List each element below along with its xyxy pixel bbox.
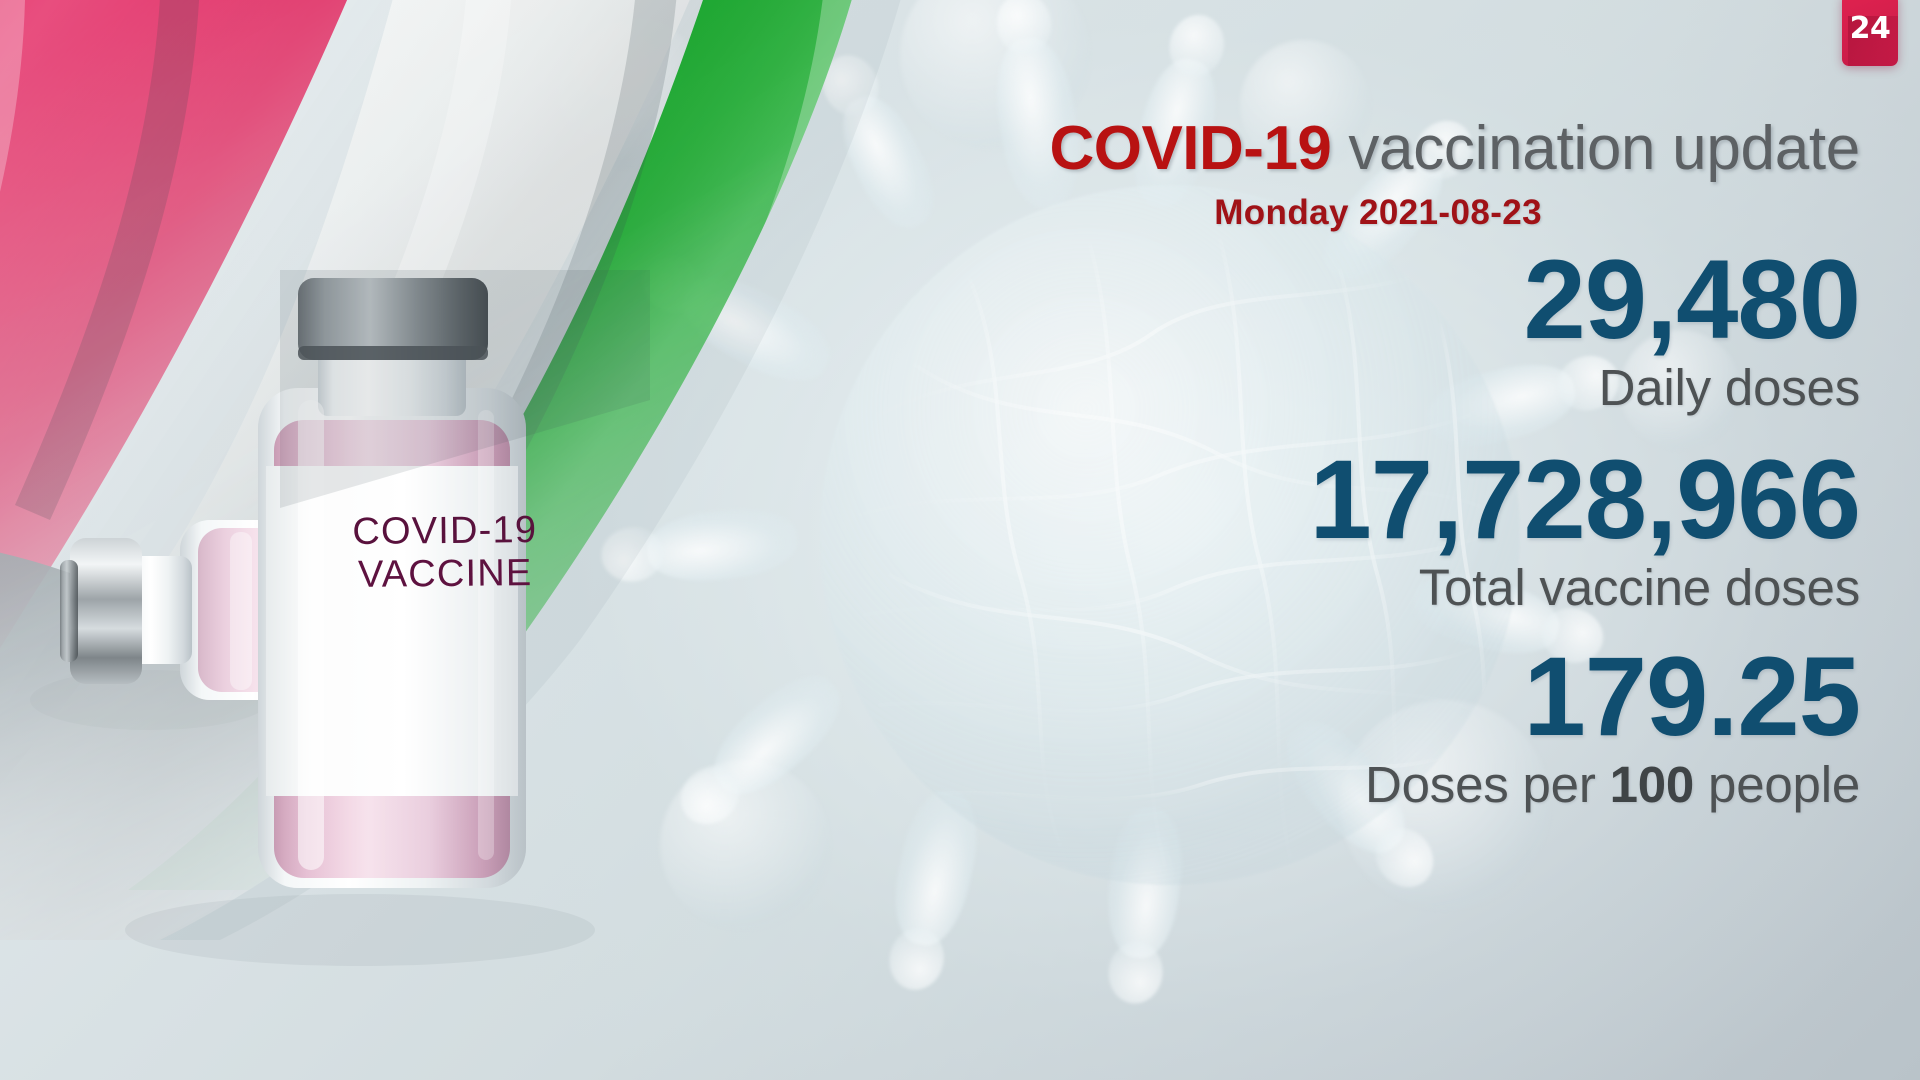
stat-per100-label-prefix: Doses per: [1365, 756, 1610, 813]
page-title-rest: vaccination update: [1331, 114, 1860, 183]
infographic-canvas: COVID-19 VACCINE 24 COVID-19 vaccination…: [0, 0, 1920, 1080]
vaccine-vial-icon: COVID-19 VACCINE: [30, 270, 650, 970]
stat-doses-per-100-people-label: Doses per 100 people: [1365, 756, 1860, 815]
page-title: COVID-19 vaccination update: [1049, 118, 1860, 180]
stat-per100-label-suffix: people: [1694, 756, 1860, 813]
stat-daily-doses-label: Daily doses: [1523, 359, 1860, 418]
stat-daily-doses-value: 29,480: [1523, 243, 1860, 357]
vial-label: COVID-19 VACCINE: [330, 509, 561, 596]
stat-doses-per-100-people: 179.25 Doses per 100 people: [1365, 640, 1860, 815]
report-date: Monday 2021-08-23: [1214, 193, 1542, 233]
logo-text: 24: [1850, 14, 1891, 46]
stat-doses-per-100-people-value: 179.25: [1365, 640, 1860, 754]
stat-daily-doses-label-text: Daily doses: [1599, 359, 1860, 416]
stat-total-vaccine-doses-value: 17,728,966: [1309, 443, 1860, 557]
vial-label-line2: VACCINE: [330, 551, 560, 596]
stat-per100-label-bold: 100: [1610, 756, 1695, 813]
stat-total-vaccine-doses-label: Total vaccine doses: [1309, 559, 1860, 618]
vial-label-line1: COVID-19: [330, 509, 560, 554]
stats-panel: COVID-19 vaccination update Monday 2021-…: [880, 0, 1920, 1080]
stat-total-vaccine-doses-label-text: Total vaccine doses: [1419, 559, 1860, 616]
page-title-highlight: COVID-19: [1049, 114, 1331, 183]
stat-daily-doses: 29,480 Daily doses: [1523, 243, 1860, 418]
stat-total-vaccine-doses: 17,728,966 Total vaccine doses: [1309, 443, 1860, 618]
